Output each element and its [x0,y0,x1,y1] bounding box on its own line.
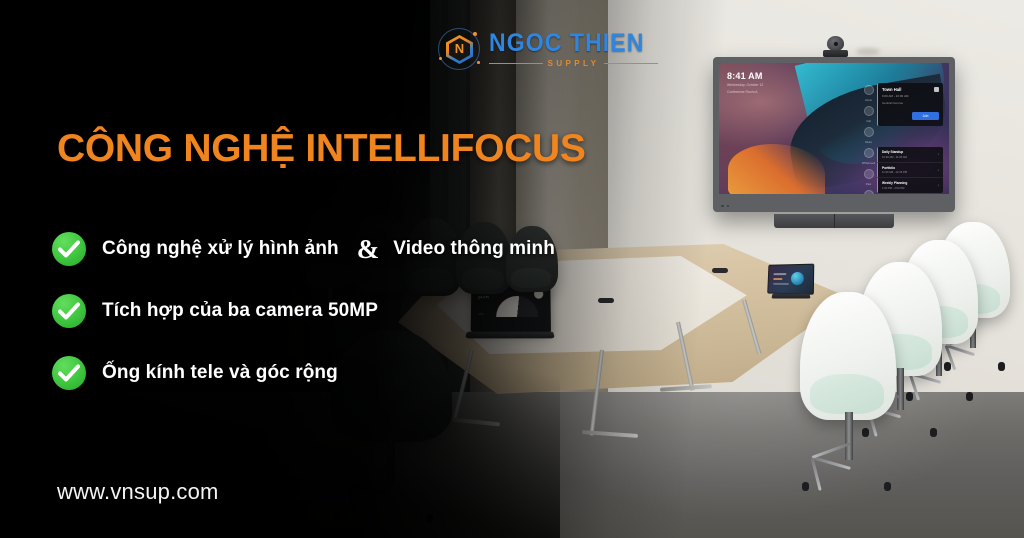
brand-name: NGOC THIEN [489,31,644,56]
check-circle-icon [52,294,86,328]
feature-list: Công nghệ xử lý hình ảnh & Video thông m… [52,218,555,404]
feature-label: Tích hợp của ba camera 50MP [102,300,378,322]
ampersand-separator: & [357,234,380,265]
check-circle-icon [52,356,86,390]
list-item: Công nghệ xử lý hình ảnh & Video thông m… [52,218,555,280]
logo-monogram: N [452,41,467,57]
spark-icon [477,61,480,64]
feature-label: Ống kính tele và góc rộng [102,362,338,384]
logo-rule-right [604,63,658,64]
spark-icon [439,57,442,60]
hexagon-logo-icon: N [437,27,481,71]
list-item: Tích hợp của ba camera 50MP [52,280,555,342]
brand-tagline: SUPPLY [548,59,600,68]
spark-icon [473,32,477,36]
banner-content: N NGOC THIEN SUPPLY CÔNG NGHỆ INTELLIFOC… [0,0,1024,538]
logo-rule-left [489,63,543,64]
list-item: Ống kính tele và góc rộng [52,342,555,404]
check-circle-icon [52,232,86,266]
feature-label: Công nghệ xử lý hình ảnh [102,238,339,260]
marketing-banner: 8:41 AM Wednesday, October 12 Conference… [0,0,1024,538]
website-url[interactable]: www.vnsup.com [57,479,219,505]
feature-label-secondary: Video thông minh [393,238,555,260]
page-title: CÔNG NGHỆ INTELLIFOCUS [57,127,586,171]
brand-logo[interactable]: N NGOC THIEN SUPPLY [437,27,658,71]
